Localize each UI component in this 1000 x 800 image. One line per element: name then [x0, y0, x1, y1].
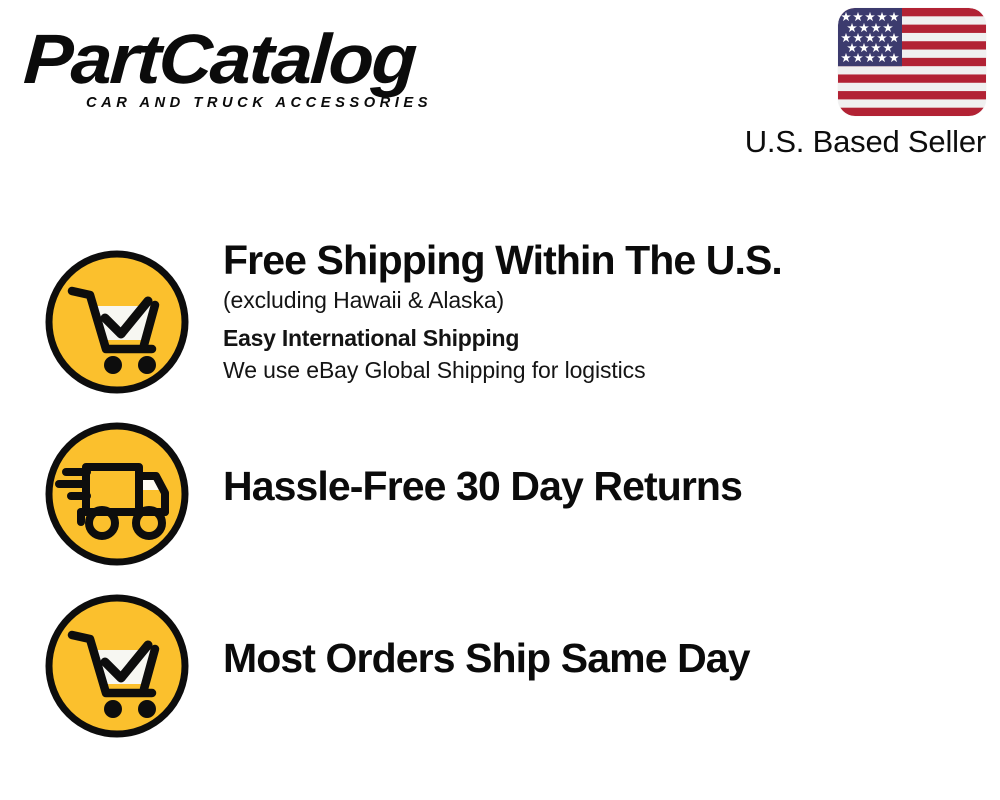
feature-row: Hassle-Free 30 Day Returns	[0, 404, 1000, 574]
feature-row: Free Shipping Within The U.S. (excluding…	[0, 232, 1000, 402]
feature-subtitle-exclusions: (excluding Hawaii & Alaska)	[223, 284, 1000, 316]
us-flag-icon	[838, 8, 986, 116]
feature-subtitle-logistics: We use eBay Global Shipping for logistic…	[223, 354, 1000, 386]
feature-text-block: Hassle-Free 30 Day Returns	[223, 404, 1000, 510]
feature-title: Hassle-Free 30 Day Returns	[223, 462, 1000, 510]
feature-text-block: Free Shipping Within The U.S. (excluding…	[223, 232, 1000, 386]
feature-subtitle-international: Easy International Shipping	[223, 322, 1000, 354]
page-header: PartCatalog CAR AND TRUCK ACCESSORIES	[0, 0, 1000, 175]
us-based-seller-label: U.S. Based Seller	[716, 123, 986, 161]
feature-text-block: Most Orders Ship Same Day	[223, 576, 1000, 682]
brand-tagline: CAR AND TRUCK ACCESSORIES	[86, 94, 432, 112]
feature-title: Most Orders Ship Same Day	[223, 634, 1000, 682]
delivery-truck-icon	[43, 420, 191, 568]
brand-logo[interactable]: PartCatalog CAR AND TRUCK ACCESSORIES	[24, 22, 494, 96]
brand-wordmark: PartCatalog	[22, 22, 524, 96]
shopping-cart-check-icon	[43, 592, 191, 740]
feature-row: Most Orders Ship Same Day	[0, 576, 1000, 746]
shopping-cart-check-icon	[43, 248, 191, 396]
us-based-seller-badge: U.S. Based Seller	[716, 8, 986, 161]
feature-title: Free Shipping Within The U.S.	[223, 236, 1000, 284]
